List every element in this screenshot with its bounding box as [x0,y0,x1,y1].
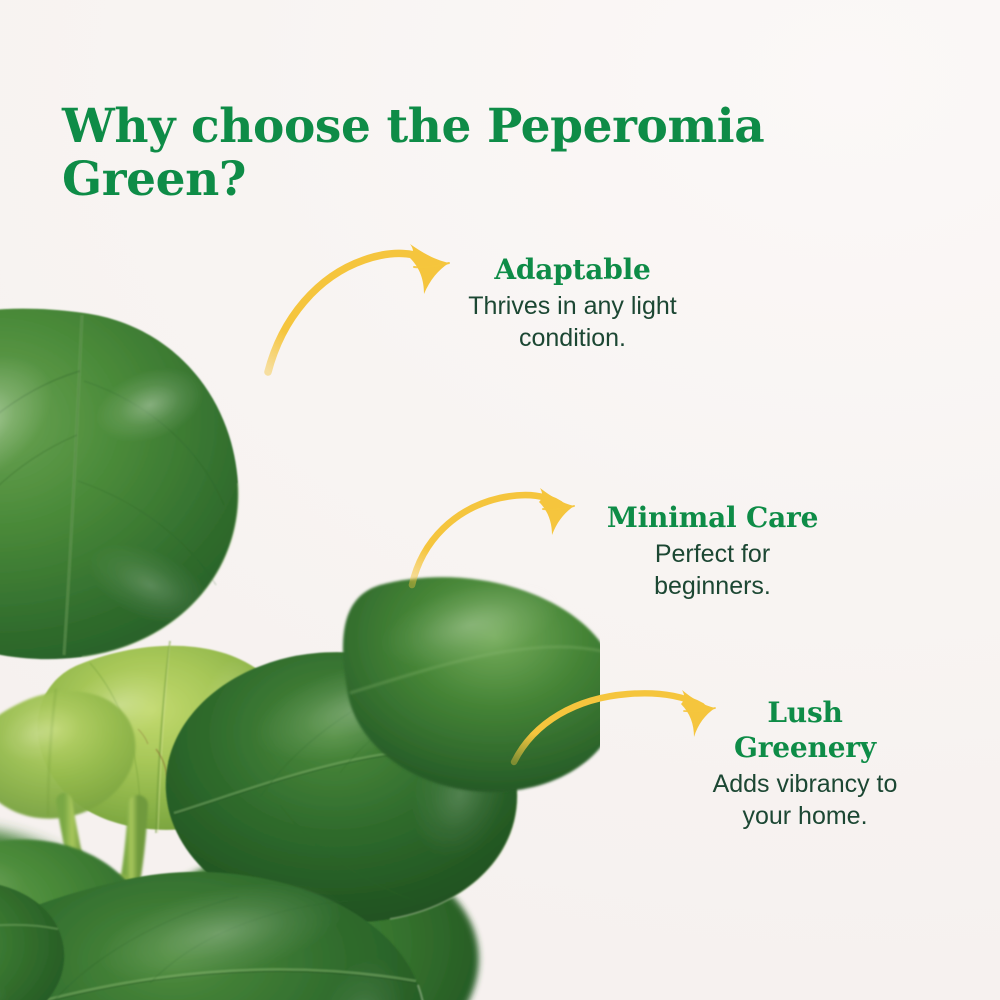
plant-photo [0,285,600,1000]
curved-arrow-icon-1 [268,244,449,372]
callout-adaptable: Adaptable Thrives in any light condition… [430,252,715,354]
page-title: Why choose the Peperomia Green? [62,100,822,206]
callout-body-minimal-care: Perfect for beginners. [570,538,855,602]
callout-heading-adaptable: Adaptable [430,252,715,287]
callout-minimal-care: Minimal Care Perfect for beginners. [570,500,855,602]
callout-lush-greenery: Lush Greenery Adds vibrancy to your home… [660,695,950,832]
curved-arrow-icon-2 [412,488,574,585]
callout-heading-minimal-care: Minimal Care [570,500,855,535]
callout-body-lush-greenery: Adds vibrancy to your home. [660,768,950,832]
callout-heading-lush-greenery: Lush Greenery [660,695,950,765]
promo-graphic: Why choose the Peperomia Green? Adaptabl… [0,0,1000,1000]
callout-body-adaptable: Thrives in any light condition. [430,290,715,354]
